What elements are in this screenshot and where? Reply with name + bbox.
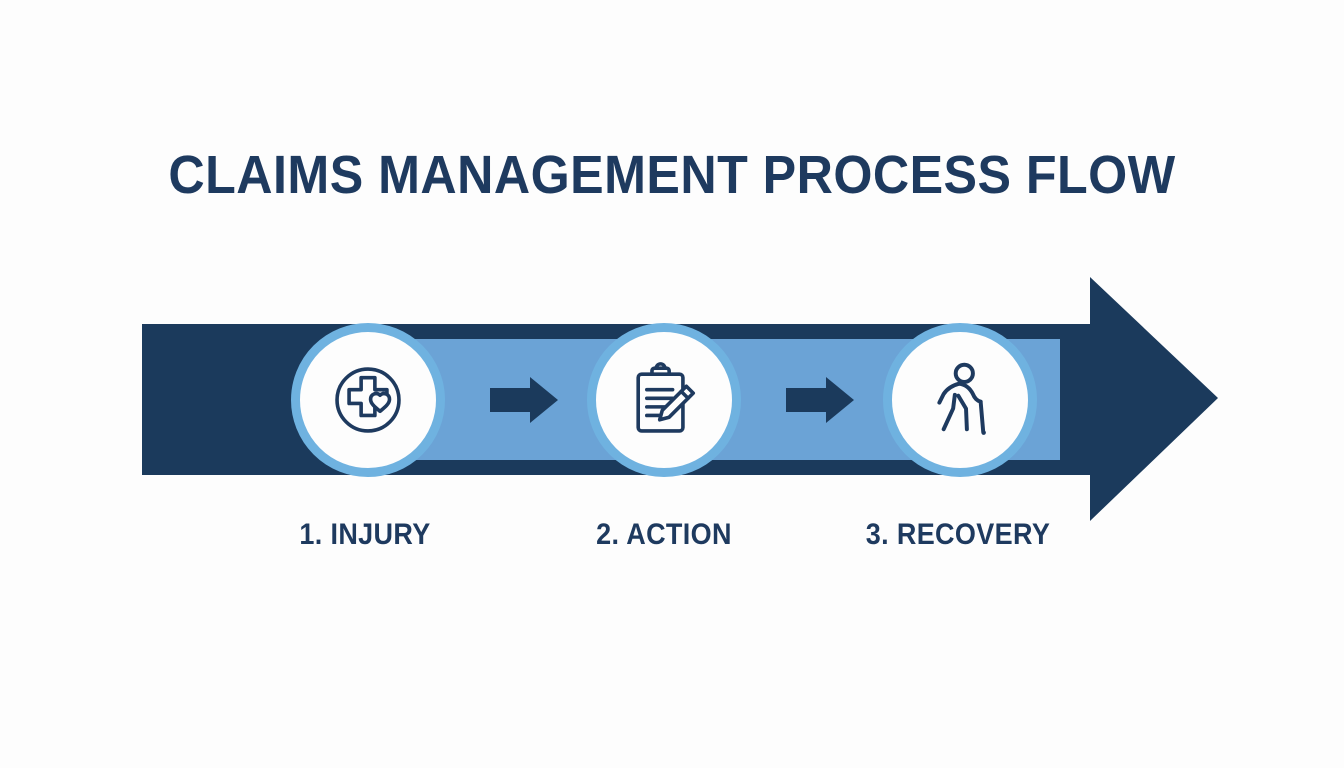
step-label-recovery: 3. RECOVERY — [841, 518, 1075, 551]
medical-cross-heart-icon — [325, 357, 411, 443]
person-walking-cane-icon — [917, 357, 1003, 443]
band-arrow-head — [1060, 277, 1218, 521]
step-label-injury: 1. INJURY — [248, 518, 482, 551]
clipboard-pencil-icon — [621, 357, 707, 443]
step-node-recovery[interactable] — [883, 323, 1037, 477]
step-node-action[interactable] — [587, 323, 741, 477]
connector-arrow-1 — [490, 377, 558, 423]
diagram-canvas: CLAIMS MANAGEMENT PROCESS FLOW — [0, 0, 1344, 768]
connector-arrow-2 — [786, 377, 854, 423]
step-node-injury[interactable] — [291, 323, 445, 477]
page-title: CLAIMS MANAGEMENT PROCESS FLOW — [47, 148, 1297, 202]
step-label-action: 2. ACTION — [547, 518, 781, 551]
